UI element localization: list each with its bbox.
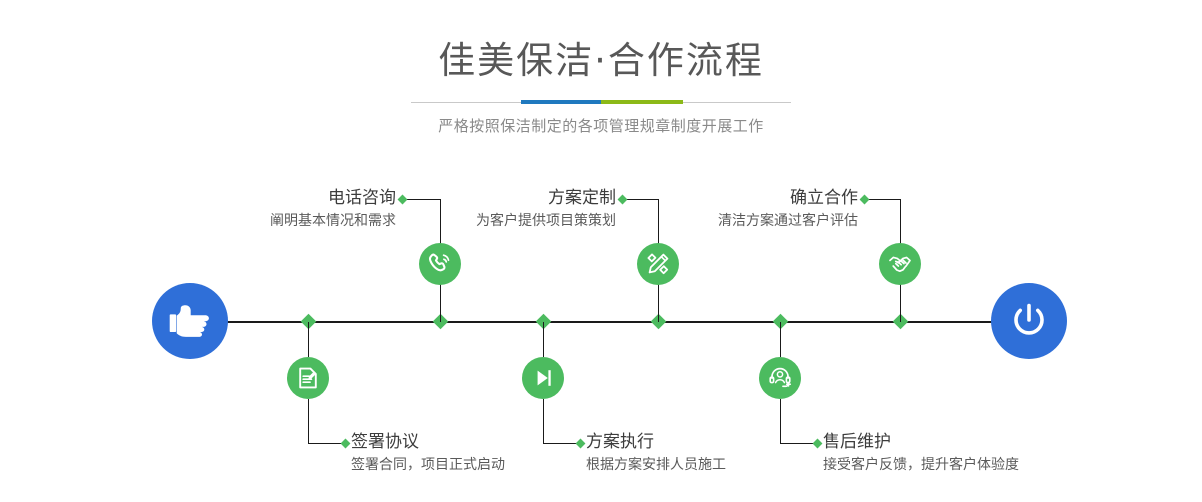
connector-vertical-step-2 xyxy=(308,322,309,357)
node-step-5[interactable] xyxy=(879,243,921,285)
label-tip-step-3 xyxy=(618,195,628,205)
label-step-6: 售后维护 接受客户反馈，提升客户体验度 xyxy=(823,431,1073,475)
connector-vertical-step-4 xyxy=(543,322,544,357)
pointing-hand-icon xyxy=(167,301,213,341)
label-vertical-step-3 xyxy=(658,199,659,243)
page-title: 佳美保洁·合作流程 xyxy=(0,38,1202,84)
label-step-2: 签署协议 签署合同，项目正式启动 xyxy=(351,431,571,475)
label-tip-step-4 xyxy=(576,439,586,449)
label-desc-step-6: 接受客户反馈，提升客户体验度 xyxy=(823,455,1073,475)
label-tip-step-6 xyxy=(813,439,823,449)
label-tip-step-5 xyxy=(860,195,870,205)
label-title-step-4: 方案执行 xyxy=(586,431,806,453)
label-desc-step-5: 清洁方案通过客户评估 xyxy=(695,211,858,231)
label-desc-step-1: 阐明基本情况和需求 xyxy=(230,211,396,231)
page-subtitle: 严格按照保洁制定的各项管理规章制度开展工作 xyxy=(0,116,1202,136)
label-vertical-step-2 xyxy=(308,399,309,444)
flowchart-root: 佳美保洁·合作流程 严格按照保洁制定的各项管理规章制度开展工作 xyxy=(0,0,1202,502)
label-step-3: 方案定制 为客户提供项目策策划 xyxy=(450,187,616,231)
node-step-3[interactable] xyxy=(637,243,679,285)
label-title-step-1: 电话咨询 xyxy=(230,187,396,209)
title-divider xyxy=(411,100,791,104)
connector-vertical-step-6 xyxy=(780,322,781,357)
label-title-step-5: 确立合作 xyxy=(695,187,858,209)
label-desc-step-2: 签署合同，项目正式启动 xyxy=(351,455,571,475)
label-vertical-step-6 xyxy=(780,399,781,444)
label-step-5: 确立合作 清洁方案通过客户评估 xyxy=(695,187,858,231)
label-title-step-3: 方案定制 xyxy=(450,187,616,209)
label-title-step-2: 签署协议 xyxy=(351,431,571,453)
node-step-6[interactable] xyxy=(759,357,801,399)
label-vertical-step-1 xyxy=(440,199,441,243)
handshake-icon xyxy=(887,251,913,277)
document-edit-icon xyxy=(295,365,321,391)
divider-segment-green xyxy=(601,100,683,104)
page-header: 佳美保洁·合作流程 严格按照保洁制定的各项管理规章制度开展工作 xyxy=(0,0,1202,136)
label-tip-step-2 xyxy=(341,439,351,449)
node-step-2[interactable] xyxy=(287,357,329,399)
node-step-4[interactable] xyxy=(522,357,564,399)
divider-segment-blue xyxy=(521,100,601,104)
power-icon xyxy=(1007,299,1051,343)
label-title-step-6: 售后维护 xyxy=(823,431,1073,453)
play-skip-icon xyxy=(530,365,556,391)
timeline-start-badge xyxy=(152,283,228,359)
label-step-4: 方案执行 根据方案安排人员施工 xyxy=(586,431,806,475)
label-vertical-step-5 xyxy=(900,199,901,243)
label-tip-step-1 xyxy=(398,195,408,205)
label-desc-step-4: 根据方案安排人员施工 xyxy=(586,455,806,475)
pencil-ruler-icon xyxy=(645,251,671,277)
label-desc-step-3: 为客户提供项目策策划 xyxy=(450,211,616,231)
timeline-end-badge xyxy=(991,283,1067,359)
label-vertical-step-4 xyxy=(543,399,544,444)
headset-support-icon xyxy=(767,365,793,391)
node-step-1[interactable] xyxy=(419,243,461,285)
phone-call-icon xyxy=(427,251,453,277)
label-step-1: 电话咨询 阐明基本情况和需求 xyxy=(230,187,396,231)
